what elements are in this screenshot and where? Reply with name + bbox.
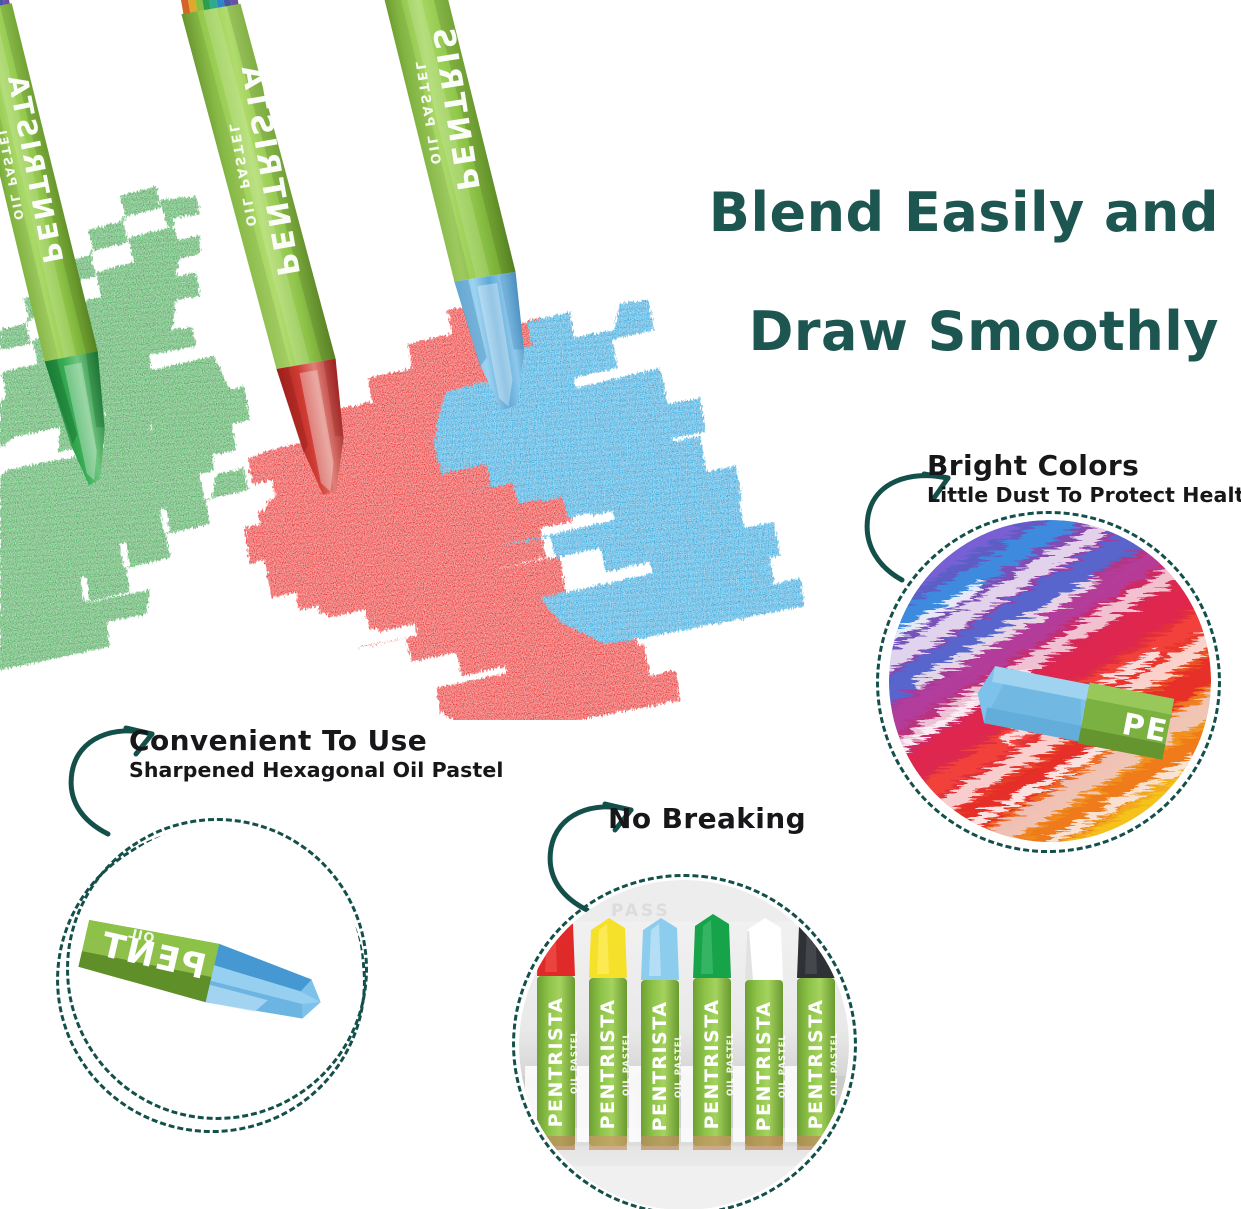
callout-title: Convenient To Use	[129, 725, 504, 756]
callout-title: No Breaking	[608, 803, 806, 834]
callout-subtitle: Little Dust To Protect Health	[927, 484, 1241, 508]
headline-line-2: Draw Smoothly	[632, 302, 1219, 361]
tray-crayon: PENTRISTA OIL PASTEL	[797, 914, 840, 1150]
svg-text:PASS: PASS	[611, 901, 671, 921]
callout-no-breaking: No Breaking	[608, 803, 806, 834]
callout-title: Bright Colors	[927, 450, 1241, 481]
callout-convenient-to-use: Convenient To Use Sharpened Hexagonal Oi…	[129, 725, 504, 783]
svg-text:PENTRISTA: PENTRISTA	[805, 999, 827, 1130]
svg-text:OIL PASTEL: OIL PASTEL	[830, 1032, 840, 1096]
marketing-infographic: PENTRISTA OIL PASTEL	[0, 0, 1241, 1209]
convenient-inset-photo: PENT OIL	[72, 825, 362, 1115]
callout-subtitle: Sharpened Hexagonal Oil Pastel	[129, 759, 504, 783]
tray-crayon: PENTRISTA OIL PASTEL	[589, 918, 632, 1150]
no-breaking-inset-photo: PASS PENTRISTA OIL PASTEL	[519, 880, 849, 1209]
tray-crayon: PENTRISTA OIL PASTEL	[693, 914, 736, 1150]
tray-crayon-label: PENTRISTA	[545, 997, 567, 1128]
tray-crayon: PENTRISTA OIL PASTEL	[745, 918, 788, 1150]
callout-bright-colors: Bright Colors Little Dust To Protect Hea…	[927, 450, 1241, 508]
svg-text:PENTRISTA: PENTRISTA	[597, 999, 619, 1130]
svg-text:PENTRISTA: PENTRISTA	[701, 999, 723, 1130]
headline-line-1: Blend Easily and	[709, 181, 1219, 244]
svg-text:PENTRISTA: PENTRISTA	[649, 1001, 671, 1132]
page-headline: Blend Easily and Draw Smoothly	[632, 124, 1219, 480]
svg-text:PENTRISTA: PENTRISTA	[753, 1001, 775, 1132]
tray-crayon: PENTRISTA OIL PASTEL	[641, 918, 684, 1150]
bright-colors-inset-photo: PE	[889, 520, 1211, 842]
